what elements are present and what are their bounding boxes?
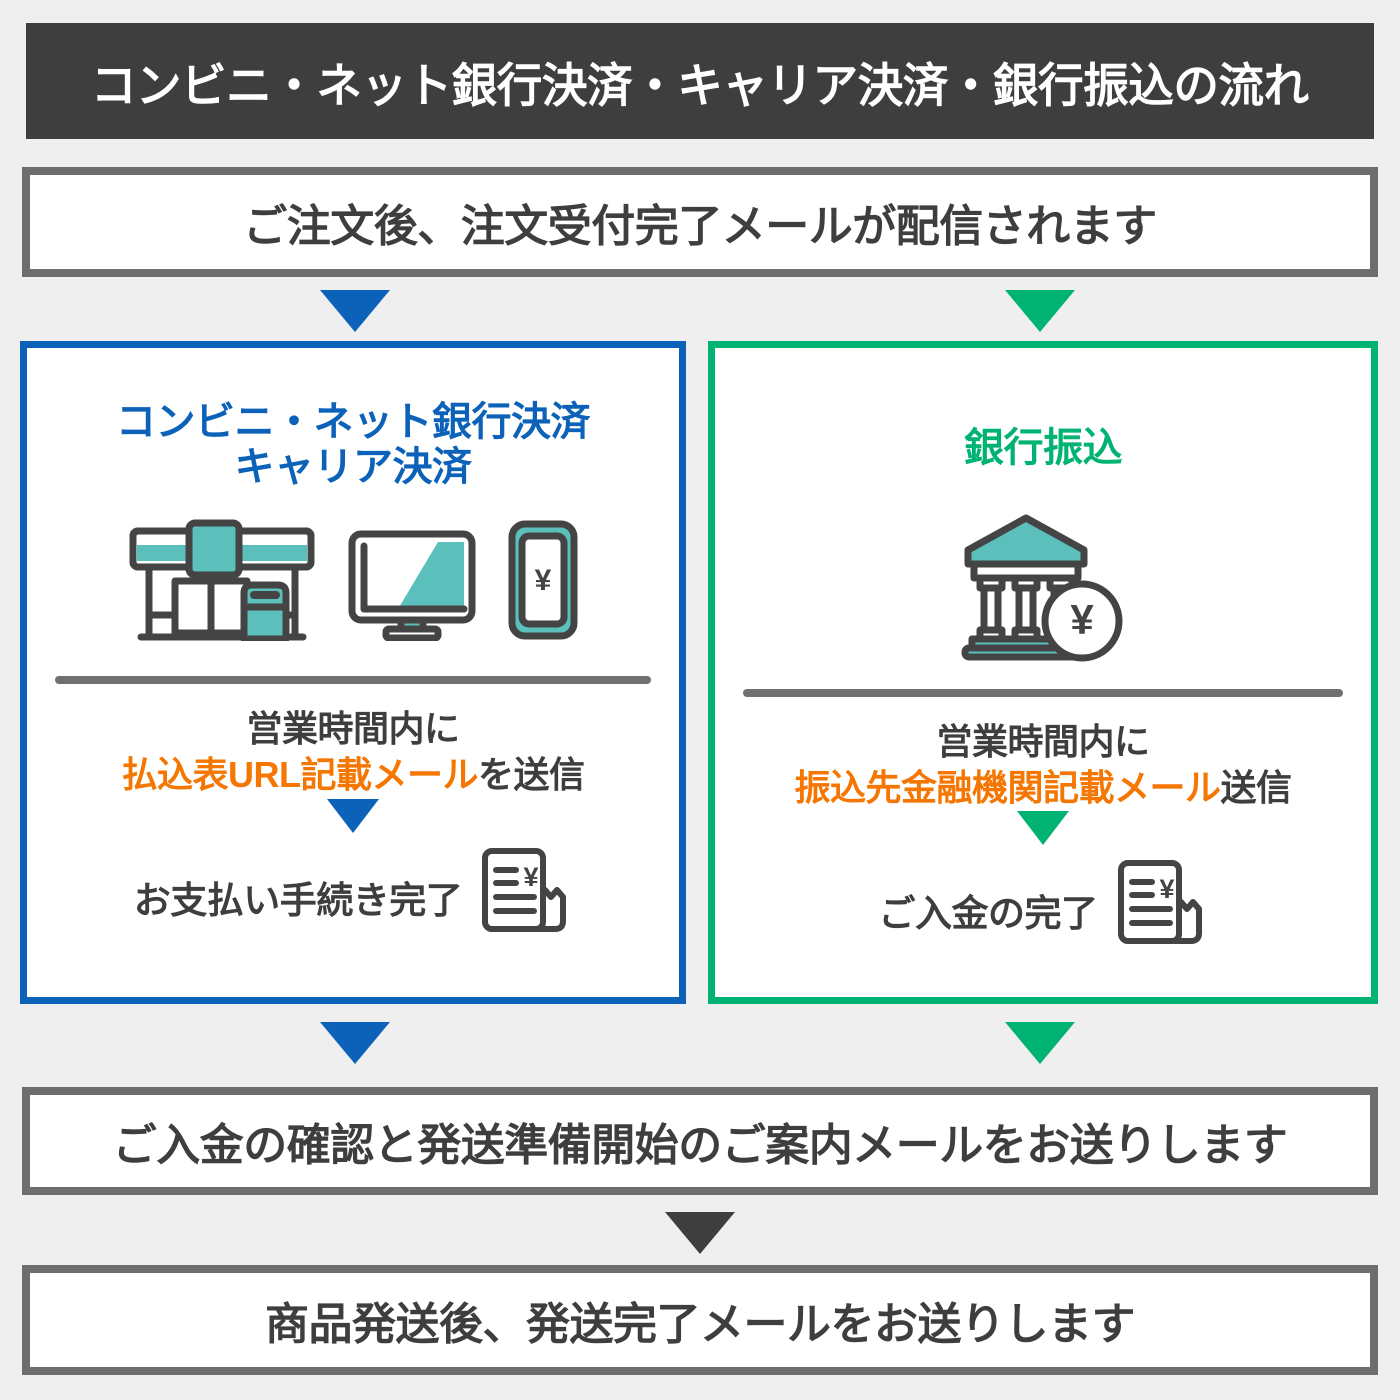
panel-convenience-payment: コンビニ・ネット銀行決済 キャリア決済 (20, 341, 686, 1004)
panel-cvs-heading: コンビニ・ネット銀行決済 キャリア決済 (27, 400, 679, 490)
panel-bank-heading-line1: 銀行振込 (715, 426, 1371, 471)
panel-cvs-note-line2: 払込表URL記載メールを送信 (27, 752, 679, 798)
panel-cvs-note: 営業時間内に 払込表URL記載メールを送信 (27, 706, 679, 798)
panel-cvs-divider (55, 676, 651, 684)
panel-bank-heading: 銀行振込 (715, 426, 1371, 471)
step-payment-confirmed-box: ご入金の確認と発送準備開始のご案内メールをお送りします (22, 1087, 1378, 1195)
bank-building-yen-icon: ¥ (958, 512, 1128, 667)
down-triangle-dark-to-ship-icon (665, 1212, 735, 1254)
step-shipped-box: 商品発送後、発送完了メールをお送りします (22, 1265, 1378, 1375)
panel-cvs-heading-line1: コンビニ・ネット銀行決済 (27, 400, 679, 445)
panel-bank-finish-label: ご入金の完了 (879, 883, 1098, 937)
panel-cvs-note-line1: 営業時間内に (27, 706, 679, 752)
panel-bank-note-line1: 営業時間内に (715, 719, 1371, 765)
panel-cvs-note-highlight: 払込表URL記載メール (121, 754, 478, 795)
payment-flow-diagram: コンビニ・ネット銀行決済・キャリア決済・銀行振込の流れ ご注文後、注文受付完了メ… (0, 0, 1400, 1400)
panel-bank-note-line2: 振込先金融機関記載メール送信 (715, 765, 1371, 811)
panel-bank-transfer: 銀行振込 (708, 341, 1378, 1004)
panel-bank-finish-row: ご入金の完了 ¥ (715, 857, 1371, 962)
down-triangle-green-inner-icon (1017, 811, 1069, 845)
panel-cvs-finish-row: お支払い手続き完了 ¥ (27, 845, 679, 950)
panel-bank-icon-row: ¥ (715, 517, 1371, 667)
step-order-received-label: ご注文後、注文受付完了メールが配信されます (243, 190, 1157, 254)
convenience-store-icon (127, 515, 317, 646)
diagram-title-bar: コンビニ・ネット銀行決済・キャリア決済・銀行振込の流れ (26, 23, 1374, 139)
step-shipped-label: 商品発送後、発送完了メールをお送りします (265, 1288, 1135, 1352)
panel-bank-note-highlight: 振込先金融機関記載メール (794, 767, 1220, 808)
down-triangle-blue-to-confirm-icon (320, 1022, 390, 1064)
panel-cvs-heading-line2: キャリア決済 (27, 445, 679, 490)
smartphone-yen-icon: ¥ (507, 519, 579, 646)
panel-bank-divider (743, 689, 1343, 697)
svg-text:¥: ¥ (535, 564, 552, 597)
panel-cvs-finish-label: お支払い手続き完了 (134, 870, 463, 924)
panel-bank-note: 営業時間内に 振込先金融機関記載メール送信 (715, 719, 1371, 811)
svg-text:¥: ¥ (1070, 596, 1094, 643)
down-triangle-blue-inner-icon (327, 799, 379, 833)
step-payment-confirmed-label: ご入金の確認と発送準備開始のご案内メールをお送りします (113, 1109, 1288, 1173)
panel-cvs-note-suffix: を送信 (478, 754, 585, 795)
receipt-yen-icon: ¥ (476, 845, 572, 950)
panel-bank-note-suffix: 送信 (1221, 767, 1292, 808)
step-order-received-box: ご注文後、注文受付完了メールが配信されます (22, 167, 1378, 277)
svg-text:¥: ¥ (524, 862, 539, 892)
down-triangle-green-to-bank-icon (1005, 290, 1075, 332)
page-title: コンビニ・ネット銀行決済・キャリア決済・銀行振込の流れ (91, 47, 1309, 116)
panel-cvs-icon-row: ¥ (27, 516, 679, 646)
receipt-yen-icon: ¥ (1112, 857, 1208, 962)
desktop-monitor-icon (347, 529, 477, 646)
svg-text:¥: ¥ (1159, 874, 1174, 904)
down-triangle-blue-to-cvs-icon (320, 290, 390, 332)
down-triangle-green-to-confirm-icon (1005, 1022, 1075, 1064)
